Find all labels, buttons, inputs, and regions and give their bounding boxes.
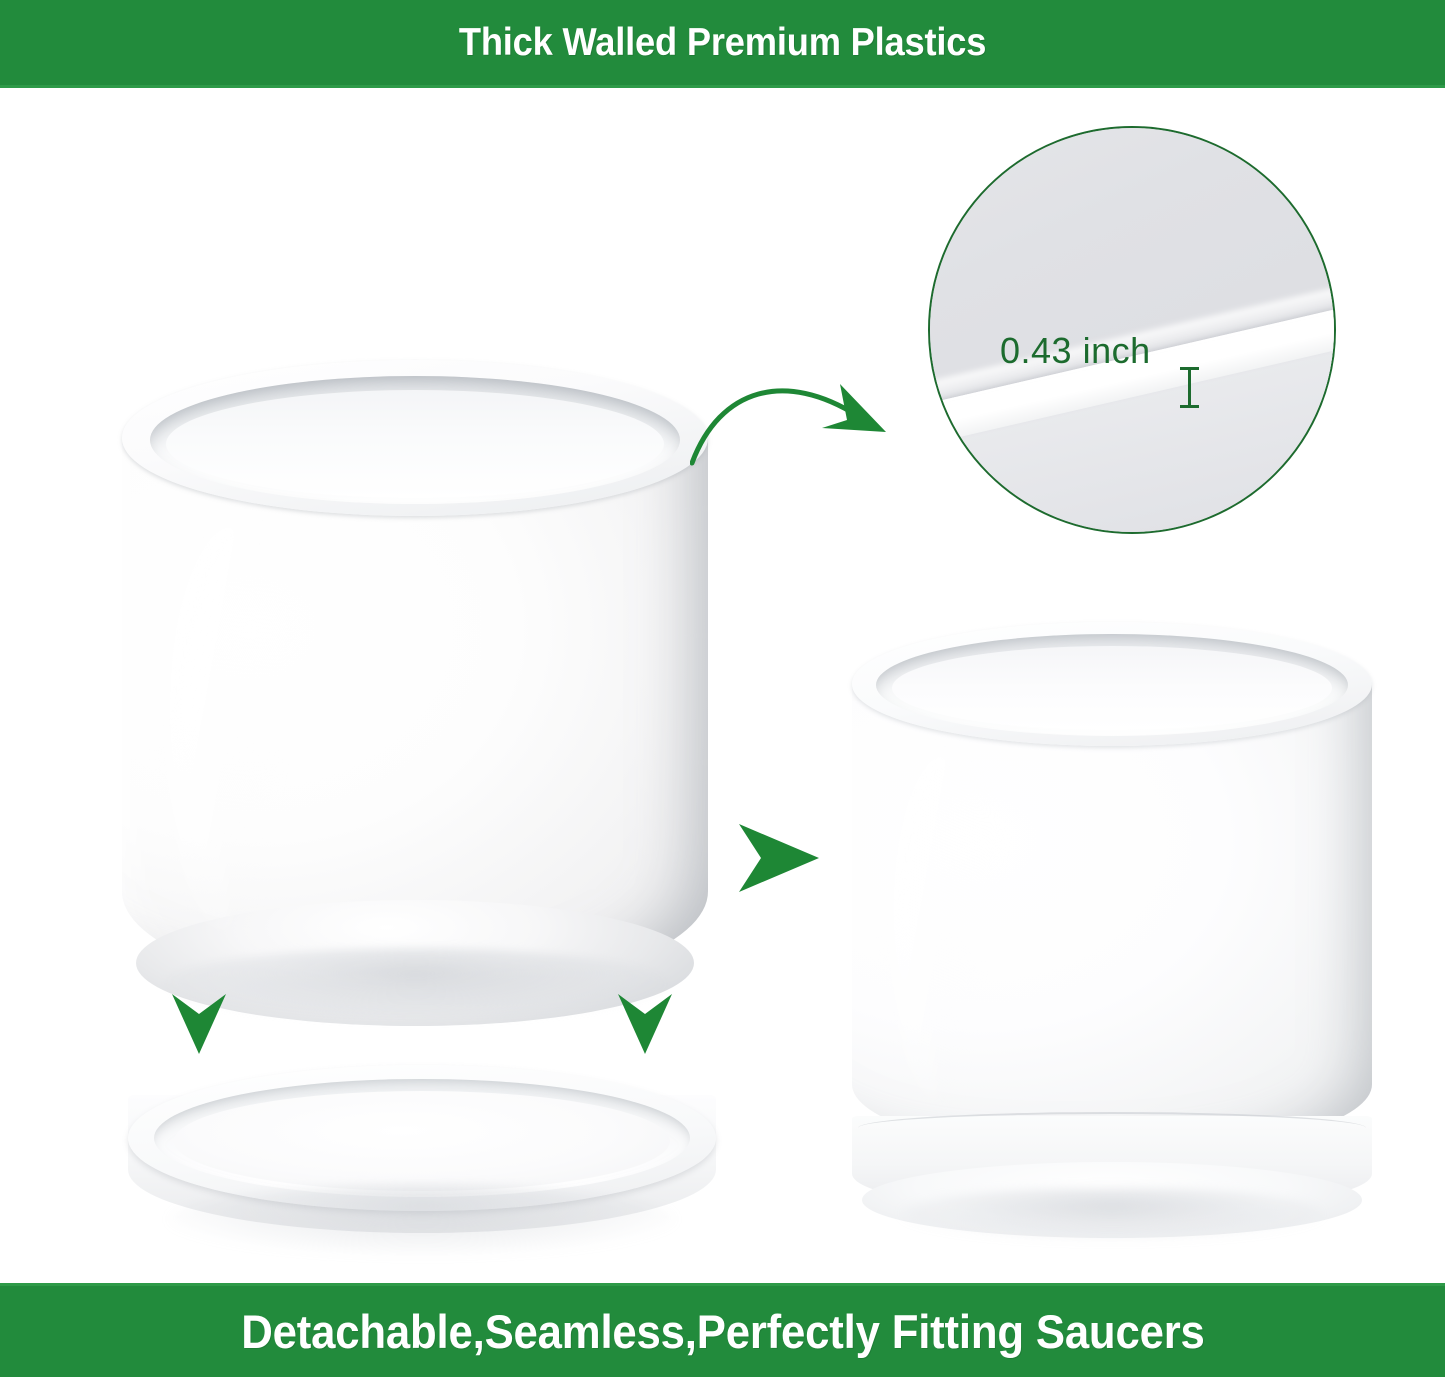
saucer-shadow [168, 1185, 676, 1255]
down-arrow-right-icon [616, 992, 674, 1054]
i-beam-bottom-cap [1180, 405, 1199, 408]
pot-left-base-shadow [166, 948, 666, 1020]
top-banner: Thick Walled Premium Plastics [0, 0, 1445, 88]
pot-left-highlight [164, 510, 314, 940]
pot-right-seam-line [858, 1112, 1366, 1144]
top-banner-text: Thick Walled Premium Plastics [459, 21, 986, 65]
i-beam-stem [1188, 369, 1191, 407]
wall-thickness-label: 0.43 inch [1000, 330, 1151, 372]
right-arrow-icon [735, 822, 821, 894]
planter-pot-right [852, 622, 1372, 1240]
pot-right-highlight [888, 742, 1008, 1112]
saucer-tray-left [128, 1065, 716, 1265]
bottom-banner: Detachable,Seamless,Perfectly Fitting Sa… [0, 1283, 1445, 1377]
bottom-banner-text: Detachable,Seamless,Perfectly Fitting Sa… [241, 1304, 1204, 1359]
i-beam-measure-icon [1178, 366, 1202, 410]
pot-left-cavity [166, 390, 664, 498]
pot-right-shadow [900, 1188, 1324, 1240]
pot-right-cavity [892, 646, 1332, 730]
curved-arrow-icon [690, 348, 930, 468]
planter-pot-left [122, 360, 708, 1040]
down-arrow-left-icon [170, 992, 228, 1054]
infographic-canvas: Thick Walled Premium Plastics [0, 0, 1445, 1377]
saucer-floor [174, 1091, 670, 1191]
